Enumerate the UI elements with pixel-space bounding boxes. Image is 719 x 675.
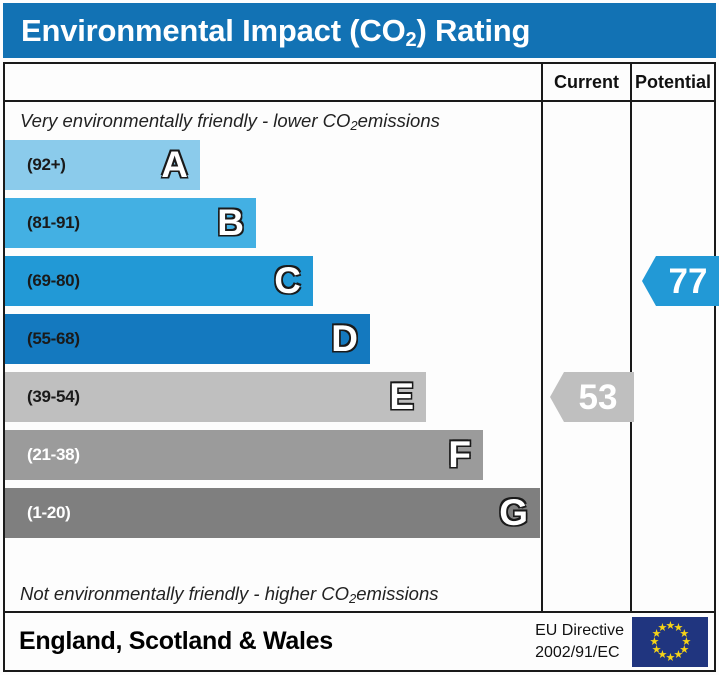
column-header-current: Current [543,64,630,100]
column-header-row: Current Potential [5,64,714,102]
caption-top-suffix: emissions [358,110,440,132]
band-row-g: (1-20)G [5,488,540,538]
current-rating-marker: 53 [550,372,634,422]
eu-directive-line1: EU Directive [535,620,624,642]
band-letter-c: C [274,262,301,299]
eu-block: EU Directive 2002/91/EC ★★★★★★★★★★★★ [535,617,708,667]
title-suffix: ) Rating [416,13,530,48]
caption-top-subscript: 2 [350,118,357,133]
caption-bottom-prefix: Not environmentally friendly - higher CO [20,583,349,605]
band-letter-g: G [499,494,528,531]
band-row-c: (69-80)C [5,256,313,306]
potential-rating-value: 77 [657,264,708,299]
band-letter-b: B [217,204,244,241]
page-title: Environmental Impact (CO2) Rating [3,13,530,49]
title-prefix: Environmental Impact (CO [21,13,406,48]
caption-bottom-subscript: 2 [349,591,356,606]
eu-star-icon: ★ [658,624,667,633]
column-header-potential: Potential [632,64,714,100]
band-range-b: (81-91) [5,213,80,233]
band-letter-d: D [331,320,358,357]
eu-flag-icon: ★★★★★★★★★★★★ [632,617,708,667]
title-subscript: 2 [406,29,417,51]
band-range-f: (21-38) [5,445,80,465]
eu-directive-text: EU Directive 2002/91/EC [535,620,624,663]
band-range-e: (39-54) [5,387,80,407]
caption-bottom: Not environmentally friendly - higher CO… [5,575,541,613]
band-range-d: (55-68) [5,329,80,349]
caption-top: Very environmentally friendly - lower CO… [5,102,541,140]
band-row-d: (55-68)D [5,314,370,364]
band-row-b: (81-91)B [5,198,256,248]
rating-grid: Current Potential Very environmentally f… [3,62,716,613]
band-row-e: (39-54)E [5,372,426,422]
band-row-f: (21-38)F [5,430,483,480]
band-range-c: (69-80) [5,271,80,291]
band-row-a: (92+)A [5,140,200,190]
band-list: (92+)A(81-91)B(69-80)C(55-68)D(39-54)E(2… [5,140,541,575]
region-label: England, Scotland & Wales [5,627,333,656]
current-rating-value: 53 [567,380,618,415]
potential-rating-marker: 77 [642,256,719,306]
caption-top-prefix: Very environmentally friendly - lower CO [20,110,350,132]
band-letter-e: E [389,378,414,415]
band-letter-a: A [161,146,188,183]
band-range-a: (92+) [5,155,66,175]
epc-certificate: Environmental Impact (CO2) Rating Curren… [0,0,719,675]
column-divider-potential [630,64,632,611]
footer: England, Scotland & Wales EU Directive 2… [3,613,716,672]
caption-bottom-suffix: emissions [356,583,438,605]
column-divider-current [541,64,543,611]
band-range-g: (1-20) [5,503,71,523]
band-letter-f: F [448,436,471,473]
chart-title-bar: Environmental Impact (CO2) Rating [3,3,716,58]
eu-directive-line2: 2002/91/EC [535,642,624,664]
